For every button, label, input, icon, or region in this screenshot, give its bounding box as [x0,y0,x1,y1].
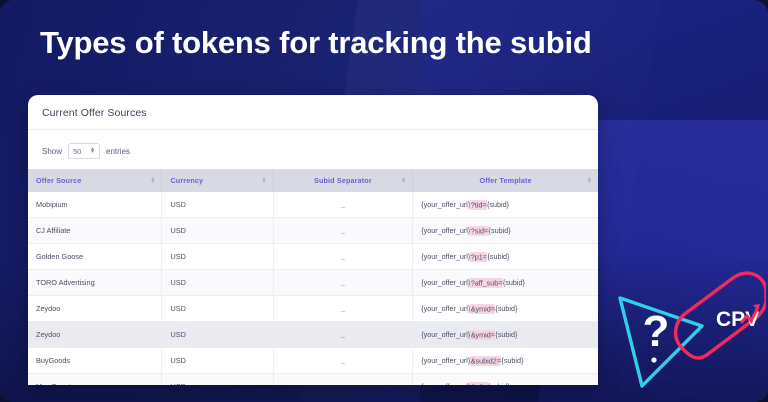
template-prefix: {your_offer_url} [421,356,470,365]
cell-currency: USD [162,192,273,218]
cell-currency: USD [162,270,273,296]
cell-currency: USD [162,218,273,244]
card-heading: Current Offer Sources [28,95,598,127]
table-row[interactable]: MobipiumUSD_{your_offer_url}?tid={subid} [28,192,598,218]
table-row[interactable]: ZeydooUSD_{your_offer_url}&ymid={subid} [28,322,598,348]
table-header-row: Offer Source ▲▼ Currency ▲▼ Subid Separa… [28,169,598,192]
template-token-highlight: &s2= [470,382,488,386]
cell-subid-separator: _ [273,270,413,296]
cell-currency: USD [162,244,273,270]
length-prefix-label: Show [42,147,62,156]
cell-subid-separator: _ [273,218,413,244]
cell-offer-source: BuyGoods [28,348,162,374]
cell-subid-separator: _ [273,374,413,386]
offer-sources-card: Current Offer Sources Show 50 ▲▼ entries [28,95,598,385]
template-suffix: {subid} [501,356,523,365]
length-suffix-label: entries [106,147,130,156]
cell-currency: USD [162,322,273,348]
cell-offer-source: Zeydoo [28,322,162,348]
template-suffix: {subid} [495,330,517,339]
column-header-offer-template[interactable]: Offer Template ▲▼ [413,169,598,192]
table-row[interactable]: ZeydooUSD_{your_offer_url}&ymid={subid} [28,296,598,322]
sort-arrows-icon[interactable]: ▲▼ [587,177,592,183]
sort-arrows-icon[interactable]: ▲▼ [261,177,266,183]
cell-currency: USD [162,296,273,322]
template-token-highlight: &ymid= [470,330,495,340]
cell-offer-template: {your_offer_url}&ymid={subid} [413,296,598,322]
sort-arrows-icon[interactable]: ▲▼ [150,177,155,183]
template-prefix: {your_offer_url} [421,382,470,385]
table-row[interactable]: TORO AdvertisingUSD_{your_offer_url}?aff… [28,270,598,296]
column-header-label: Currency [170,176,203,185]
template-prefix: {your_offer_url} [421,226,470,235]
template-prefix: {your_offer_url} [421,200,470,209]
cell-subid-separator: _ [273,192,413,218]
template-token-highlight: ?p1= [470,252,487,262]
entries-per-page-select[interactable]: 50 ▲▼ [68,143,100,159]
column-header-subid-separator[interactable]: Subid Separator ▲▼ [273,169,413,192]
table-row[interactable]: Max BountyUSD_{your_offer_url}&s2={subid… [28,374,598,386]
cell-subid-separator: _ [273,322,413,348]
cell-offer-source: TORO Advertising [28,270,162,296]
cell-subid-separator: _ [273,348,413,374]
screenshot-root: Types of tokens for tracking the subid C… [0,0,768,402]
column-header-offer-source[interactable]: Offer Source ▲▼ [28,169,162,192]
cell-currency: USD [162,374,273,386]
cell-offer-template: {your_offer_url}?tid={subid} [413,192,598,218]
cell-currency: USD [162,348,273,374]
template-suffix: {subid} [487,252,509,261]
cell-offer-template: {your_offer_url}&s2={subid} [413,374,598,386]
column-header-label: Offer Source [36,176,81,185]
template-prefix: {your_offer_url} [421,278,470,287]
entries-per-page-value: 50 [73,147,81,156]
template-token-highlight: ?aff_sub= [470,278,503,288]
spinner-arrows-icon: ▲▼ [90,148,95,155]
column-header-label: Subid Separator [314,176,372,185]
cell-offer-source: Mobipium [28,192,162,218]
column-header-label: Offer Template [479,176,531,185]
template-suffix: {subid} [503,278,525,287]
template-suffix: {subid} [487,200,509,209]
table-head: Offer Source ▲▼ Currency ▲▼ Subid Separa… [28,169,598,192]
template-suffix: {subid} [495,304,517,313]
cell-offer-template: {your_offer_url}?aff_sub={subid} [413,270,598,296]
cell-offer-template: {your_offer_url}&subid2={subid} [413,348,598,374]
offer-sources-table: Offer Source ▲▼ Currency ▲▼ Subid Separa… [28,169,598,385]
column-header-currency[interactable]: Currency ▲▼ [162,169,273,192]
cell-offer-template: {your_offer_url}?sid={subid} [413,218,598,244]
template-token-highlight: &ymid= [470,304,495,314]
template-token-highlight: ?sid= [470,226,488,236]
sort-arrows-icon[interactable]: ▲▼ [401,177,406,183]
cell-offer-template: {your_offer_url}?p1={subid} [413,244,598,270]
cell-subid-separator: _ [273,296,413,322]
cell-offer-source: Golden Goose [28,244,162,270]
table-row[interactable]: BuyGoodsUSD_{your_offer_url}&subid2={sub… [28,348,598,374]
template-prefix: {your_offer_url} [421,304,470,313]
template-token-highlight: ?tid= [470,200,487,210]
cell-offer-source: CJ Affiliate [28,218,162,244]
page-title: Types of tokens for tracking the subid [40,26,740,60]
cell-subid-separator: _ [273,244,413,270]
template-prefix: {your_offer_url} [421,252,470,261]
table-length-control: Show 50 ▲▼ entries [28,130,598,169]
template-prefix: {your_offer_url} [421,330,470,339]
template-suffix: {subid} [489,226,511,235]
table-row[interactable]: Golden GooseUSD_{your_offer_url}?p1={sub… [28,244,598,270]
template-token-highlight: &subid2= [470,356,501,366]
cell-offer-source: Zeydoo [28,296,162,322]
template-suffix: {subid} [488,382,510,385]
table-row[interactable]: CJ AffiliateUSD_{your_offer_url}?sid={su… [28,218,598,244]
cell-offer-source: Max Bounty [28,374,162,386]
table-body: MobipiumUSD_{your_offer_url}?tid={subid}… [28,192,598,385]
cell-offer-template: {your_offer_url}&ymid={subid} [413,322,598,348]
